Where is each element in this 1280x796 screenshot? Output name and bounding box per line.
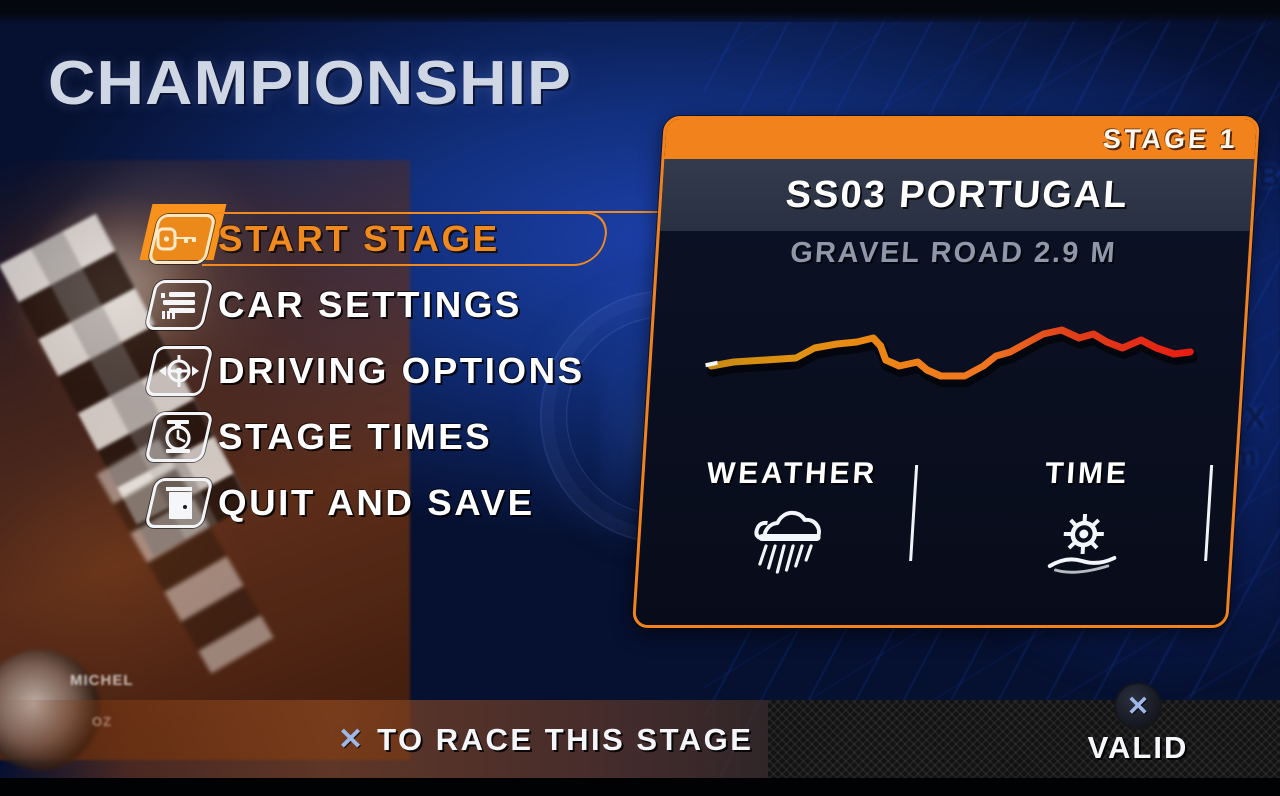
menu-item-label: CAR SETTINGS [218,284,522,326]
time-stat: TIME [933,457,1236,583]
stage-panel-frame: STAGE 1 SS03 PORTUGAL GRAVEL ROAD 2.9 M [632,116,1260,628]
key-icon [150,214,208,264]
main-menu: START STAGE CAR SETTINGS [150,206,670,536]
stage-surface-and-length: GRAVEL ROAD 2.9 M [657,237,1249,270]
page-title: CHAMPIONSHIP [48,48,572,119]
race-hint: ✕ TO RACE THIS STAGE [338,722,753,758]
menu-item-quit-and-save[interactable]: QUIT AND SAVE [150,470,670,536]
stopwatch-icon [150,412,208,462]
stage-panel-header: STAGE 1 [664,119,1257,159]
menu-item-start-stage[interactable]: START STAGE [150,206,670,272]
door-exit-icon [150,478,208,528]
stage-info-panel: STAGE 1 SS03 PORTUGAL GRAVEL ROAD 2.9 M [632,116,1260,628]
menu-item-stage-times[interactable]: STAGE TIMES [150,404,670,470]
race-hint-text: TO RACE THIS STAGE [377,722,753,758]
time-label: TIME [1044,457,1130,491]
stage-title-band: SS03 PORTUGAL [660,159,1255,231]
car-setup-icon [150,280,208,330]
menu-item-driving-options[interactable]: DRIVING OPTIONS [150,338,670,404]
valid-label: VALID [1078,730,1198,766]
stage-conditions: WEATHER [638,457,1236,583]
letterbox-bottom [0,778,1280,796]
bottom-action-bar: ✕ TO RACE THIS STAGE ✕ VALID [0,700,1280,778]
stage-name: SS03 PORTUGAL [784,174,1129,217]
weather-stat: WEATHER [638,457,941,583]
stage-number-label: STAGE 1 [1102,124,1238,155]
menu-item-label: QUIT AND SAVE [218,482,535,524]
game-menu-screen: COIMBRA TX m MICHEL OZ CHAMPIONSHIP [0,0,1280,796]
valid-button[interactable]: ✕ VALID [1078,684,1198,766]
steering-wheel-icon [150,346,208,396]
bottom-bar-mesh-texture [768,700,1280,778]
weather-label: WEATHER [706,457,879,491]
cross-button-icon: ✕ [338,725,363,755]
menu-item-label: START STAGE [218,218,500,260]
rain-cloud-icon [638,501,938,583]
sun-horizon-icon [933,501,1233,583]
menu-item-label: DRIVING OPTIONS [218,350,585,392]
menu-item-car-settings[interactable]: CAR SETTINGS [150,272,670,338]
letterbox-top [0,0,1280,22]
route-map-icon [700,304,1207,414]
cross-button-icon[interactable]: ✕ [1116,684,1160,728]
background-decal-michelin: MICHEL [70,672,134,689]
cross-glyph: ✕ [1127,693,1150,720]
menu-item-label: STAGE TIMES [218,416,492,458]
